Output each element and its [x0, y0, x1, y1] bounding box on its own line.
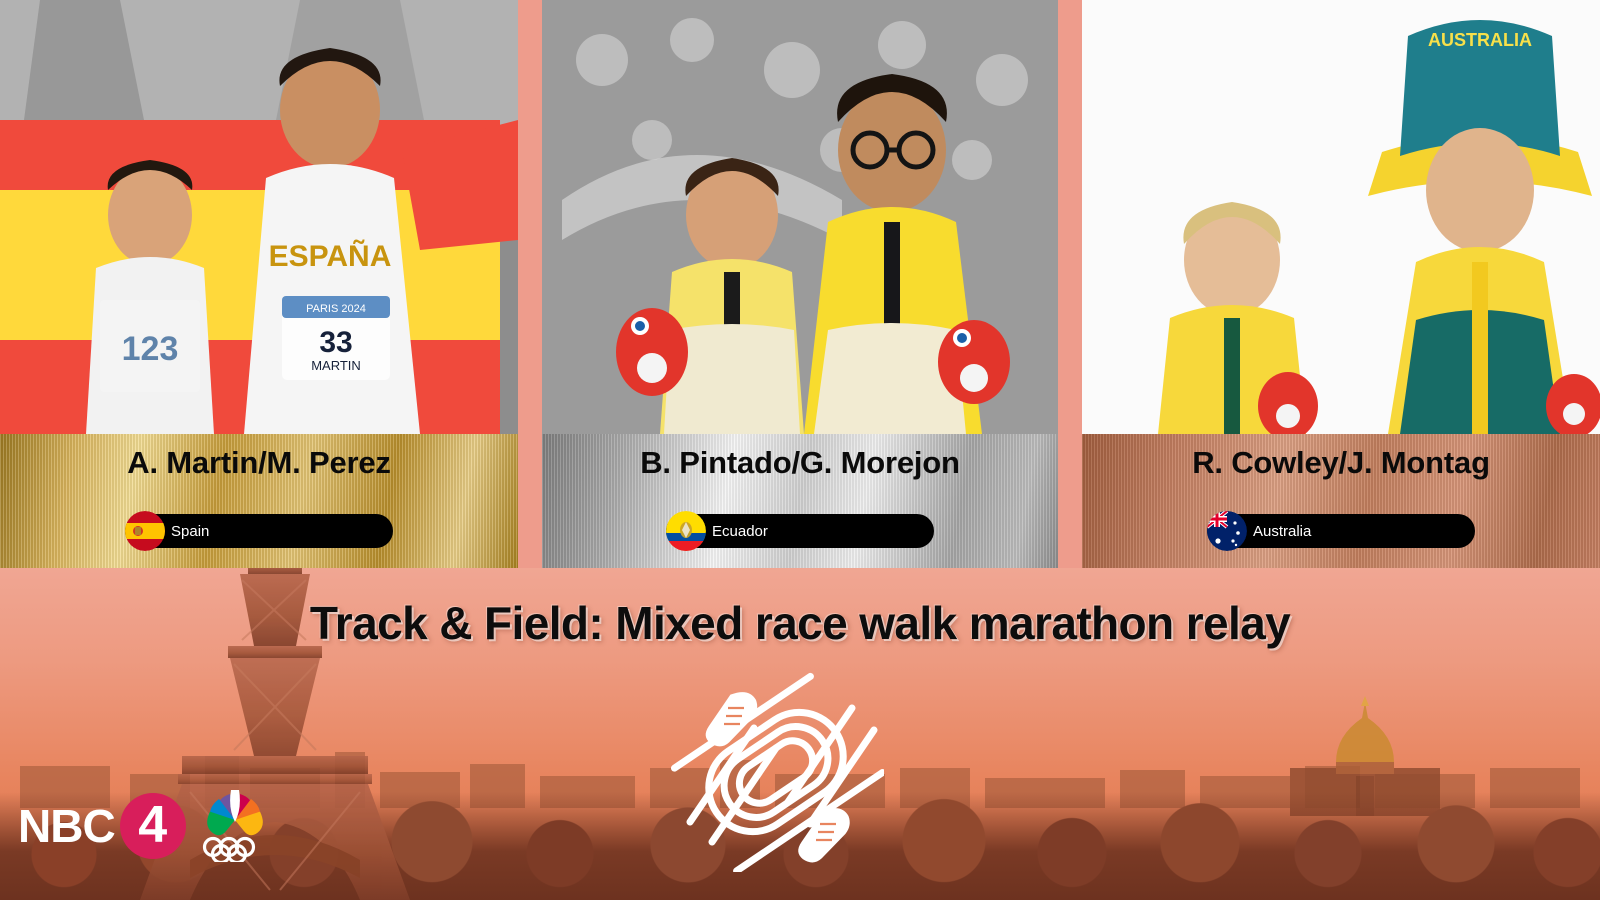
svg-text:ESPAÑA: ESPAÑA: [269, 239, 392, 273]
svg-text:MARTIN: MARTIN: [311, 358, 361, 373]
svg-text:33: 33: [319, 326, 352, 359]
nbc-peacock-icon: [198, 790, 272, 862]
name-bar-bronze: R. Cowley/J. Montag Australia: [1082, 434, 1600, 568]
channel-number-badge: 4: [120, 793, 186, 859]
country-pill-body: Spain: [125, 514, 393, 548]
name-bar-gold: A. Martin/M. Perez Spain: [0, 434, 518, 568]
country-label: Spain: [171, 524, 209, 539]
athlete-names: B. Pintado/G. Morejon: [640, 447, 960, 478]
country-pill-ecuador[interactable]: Ecuador: [666, 514, 934, 548]
athlete-names: R. Cowley/J. Montag: [1192, 447, 1490, 478]
country-pill-body: Australia: [1207, 514, 1475, 548]
ecuador-medalists-photo: [542, 0, 1058, 434]
flag-australia-icon: [1207, 511, 1247, 551]
track-and-field-icon: [668, 672, 884, 872]
country-label: Ecuador: [712, 524, 768, 539]
athlete-names: A. Martin/M. Perez: [127, 447, 390, 478]
medalist-cards: 123 ESPAÑA PARIS 2024 33 MARTIN A. Marti…: [0, 0, 1600, 570]
svg-text:AUSTRALIA: AUSTRALIA: [1428, 30, 1532, 50]
channel-number: 4: [138, 799, 167, 851]
svg-text:PARIS 2024: PARIS 2024: [306, 303, 366, 315]
country-label: Australia: [1253, 524, 1311, 539]
australia-medalists-photo: AUSTRALIA: [1082, 0, 1600, 434]
medalist-card-silver[interactable]: B. Pintado/G. Morejon Ecuador: [542, 0, 1058, 568]
nbc-4-logo[interactable]: NBC 4: [18, 786, 272, 866]
medalist-card-bronze[interactable]: AUSTRALIA R. Cowley/J. Montag Australia: [1082, 0, 1600, 568]
olympic-rings-icon: [204, 839, 253, 863]
page-title: Track & Field: Mixed race walk marathon …: [0, 596, 1600, 650]
country-pill-body: Ecuador: [666, 514, 934, 548]
flag-spain-icon: [125, 511, 165, 551]
flag-ecuador-icon: [666, 511, 706, 551]
country-pill-australia[interactable]: Australia: [1207, 514, 1475, 548]
name-bar-silver: B. Pintado/G. Morejon Ecuador: [542, 434, 1058, 568]
country-pill-spain[interactable]: Spain: [125, 514, 393, 548]
spain-medalists-photo: 123 ESPAÑA PARIS 2024 33 MARTIN: [0, 0, 518, 434]
network-wordmark: NBC: [18, 803, 115, 849]
medalist-card-gold[interactable]: 123 ESPAÑA PARIS 2024 33 MARTIN A. Marti…: [0, 0, 518, 568]
